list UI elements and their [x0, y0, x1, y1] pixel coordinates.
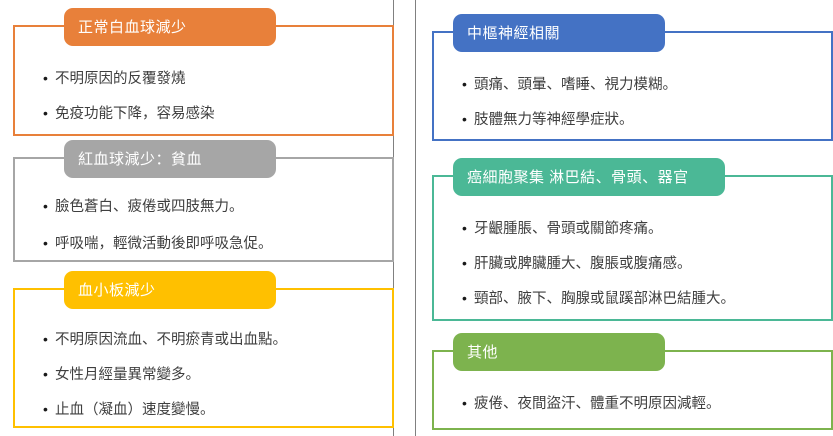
bullet-icon: •: [43, 367, 55, 381]
list-item: • 止血（凝血）速度變慢。: [43, 402, 215, 418]
list-item: • 肝臟或脾臟腫大、腹脹或腹痛感。: [462, 256, 692, 272]
card-central-nervous-system: 中樞神經相關 • 頭痛、頭暈、嗜睡、視力模糊。 • 肢體無力等神經學症狀。: [432, 31, 833, 141]
bullet-icon: •: [43, 71, 55, 85]
list-item: • 肢體無力等神經學症狀。: [462, 112, 634, 128]
column-right: 中樞神經相關 • 頭痛、頭暈、嗜睡、視力模糊。 • 肢體無力等神經學症狀。 癌細…: [415, 0, 833, 436]
bullet-icon: •: [43, 199, 55, 213]
list-item: • 呼吸喘，輕微活動後即呼吸急促。: [43, 236, 273, 252]
bullet-icon: •: [43, 402, 55, 416]
list-item: • 不明原因流血、不明瘀青或出血點。: [43, 332, 287, 348]
list-item: • 女性月經量異常變多。: [43, 367, 200, 383]
list-item-label: 呼吸喘，輕微活動後即呼吸急促。: [55, 237, 273, 252]
list-item: • 牙齦腫脹、骨頭或關節疼痛。: [462, 221, 663, 237]
card-other-symptoms: 其他 • 疲倦、夜間盜汗、體重不明原因減輕。: [432, 350, 833, 430]
card-header-platelet: 血小板減少: [64, 271, 276, 309]
list-item-label: 不明原因的反覆發燒: [55, 72, 186, 87]
list-item-label: 不明原因流血、不明瘀青或出血點。: [55, 333, 287, 348]
list-item: • 頸部、腋下、胸腺或鼠蹊部淋巴結腫大。: [462, 291, 735, 307]
bullet-icon: •: [462, 221, 474, 235]
card-header-label: 血小板減少: [78, 283, 156, 298]
list-item-label: 止血（凝血）速度變慢。: [55, 403, 215, 418]
card-header-label: 紅血球減少：貧血: [78, 152, 202, 167]
list-item-label: 免疫功能下降，容易感染: [55, 107, 215, 122]
card-header-white-blood-cell: 正常白血球減少: [64, 8, 276, 46]
card-header-label: 其他: [467, 345, 498, 360]
list-item-label: 臉色蒼白、疲倦或四肢無力。: [55, 200, 244, 215]
list-item: • 臉色蒼白、疲倦或四肢無力。: [43, 199, 244, 215]
card-cancer-cell-accumulation: 癌細胞聚集 淋巴結、骨頭、器官 • 牙齦腫脹、骨頭或關節疼痛。 • 肝臟或脾臟腫…: [432, 175, 833, 321]
card-red-blood-cell: 紅血球減少：貧血 • 臉色蒼白、疲倦或四肢無力。 • 呼吸喘，輕微活動後即呼吸急…: [13, 157, 394, 262]
card-header-label: 正常白血球減少: [78, 20, 187, 35]
bullet-icon: •: [462, 256, 474, 270]
column-left: 正常白血球減少 • 不明原因的反覆發燒 • 免疫功能下降，容易感染 紅血球減少：…: [0, 0, 394, 436]
list-item-label: 肢體無力等神經學症狀。: [474, 113, 634, 128]
list-item: • 不明原因的反覆發燒: [43, 71, 186, 87]
bullet-icon: •: [462, 291, 474, 305]
list-item-label: 疲倦、夜間盜汗、體重不明原因減輕。: [474, 397, 721, 412]
card-header-label: 癌細胞聚集 淋巴結、骨頭、器官: [467, 170, 689, 185]
list-item-label: 肝臟或脾臟腫大、腹脹或腹痛感。: [474, 257, 692, 272]
bullet-icon: •: [462, 396, 474, 410]
list-item: • 疲倦、夜間盜汗、體重不明原因減輕。: [462, 396, 721, 412]
bullet-icon: •: [462, 77, 474, 91]
bullet-icon: •: [462, 112, 474, 126]
list-item-label: 女性月經量異常變多。: [55, 368, 200, 383]
list-item-label: 頸部、腋下、胸腺或鼠蹊部淋巴結腫大。: [474, 292, 735, 307]
list-item: • 頭痛、頭暈、嗜睡、視力模糊。: [462, 77, 677, 93]
list-item-label: 牙齦腫脹、骨頭或關節疼痛。: [474, 222, 663, 237]
card-platelet: 血小板減少 • 不明原因流血、不明瘀青或出血點。 • 女性月經量異常變多。 • …: [13, 288, 394, 428]
card-header-label: 中樞神經相關: [467, 26, 560, 41]
list-item: • 免疫功能下降，容易感染: [43, 106, 215, 122]
symptom-overview-diagram: 正常白血球減少 • 不明原因的反覆發燒 • 免疫功能下降，容易感染 紅血球減少：…: [0, 0, 833, 436]
card-header-cancer-cell-accumulation: 癌細胞聚集 淋巴結、骨頭、器官: [453, 158, 725, 196]
card-header-central-nervous-system: 中樞神經相關: [453, 14, 665, 52]
card-header-other-symptoms: 其他: [453, 333, 665, 371]
bullet-icon: •: [43, 236, 55, 250]
list-item-label: 頭痛、頭暈、嗜睡、視力模糊。: [474, 78, 677, 93]
card-white-blood-cell: 正常白血球減少 • 不明原因的反覆發燒 • 免疫功能下降，容易感染: [13, 25, 394, 136]
card-header-red-blood-cell: 紅血球減少：貧血: [64, 140, 276, 178]
bullet-icon: •: [43, 106, 55, 120]
bullet-icon: •: [43, 332, 55, 346]
